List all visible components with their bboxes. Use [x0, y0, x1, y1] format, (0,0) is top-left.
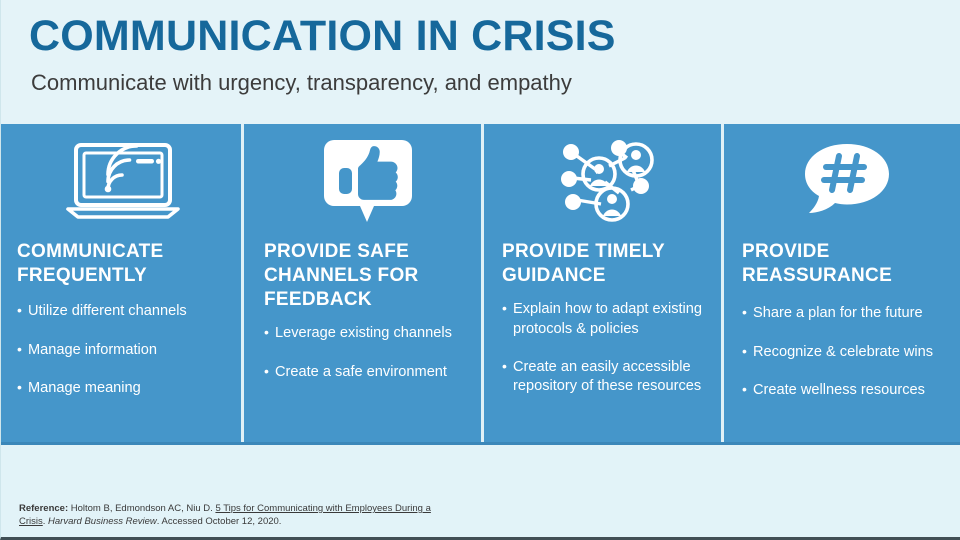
- reference-accessed: . Accessed October 12, 2020.: [157, 516, 282, 527]
- reference-journal: Harvard Business Review: [48, 516, 157, 527]
- column-heading: PROVIDE SAFE CHANNELS FOR FEEDBACK: [264, 240, 471, 312]
- list-item: Recognize & celebrate wins: [742, 343, 951, 362]
- reference-text: Reference: Holtom B, Edmondson AC, Niu D…: [19, 502, 439, 529]
- column-communicate-frequently: COMMUNICATE FREQUENTLY Utilize different…: [1, 124, 241, 442]
- laptop-wifi-icon: [17, 124, 229, 232]
- reference-period: .: [43, 516, 46, 527]
- column-heading: PROVIDE TIMELY GUIDANCE: [502, 240, 711, 288]
- column-provide-reassurance: PROVIDE REASSURANCE Share a plan for the…: [721, 124, 960, 442]
- page-title: COMMUNICATION IN CRISIS: [29, 14, 960, 59]
- slide-header: COMMUNICATION IN CRISIS Communicate with…: [1, 0, 960, 124]
- list-item: Manage information: [17, 341, 229, 360]
- list-item: Manage meaning: [17, 379, 229, 398]
- list-item: Create a safe environment: [264, 363, 471, 382]
- people-network-icon: [502, 124, 711, 232]
- hashtag-speech-bubble-icon: [742, 124, 951, 232]
- column-heading: PROVIDE REASSURANCE: [742, 240, 951, 288]
- list-item: Share a plan for the future: [742, 304, 951, 323]
- list-item: Create an easily accessible repository o…: [502, 358, 711, 397]
- column-heading: COMMUNICATE FREQUENTLY: [17, 240, 229, 288]
- list-item: Explain how to adapt existing protocols …: [502, 300, 711, 339]
- reference-authors: Holtom B, Edmondson AC, Niu D.: [71, 503, 213, 514]
- columns-band: COMMUNICATE FREQUENTLY Utilize different…: [1, 124, 960, 445]
- reference-label: Reference:: [19, 503, 68, 514]
- list-item: Utilize different channels: [17, 302, 229, 321]
- column-bullet-list: Explain how to adapt existing protocols …: [502, 300, 711, 415]
- thumbs-up-speech-bubble-icon: [264, 124, 471, 232]
- infographic-slide: COMMUNICATION IN CRISIS Communicate with…: [0, 0, 960, 540]
- column-provide-timely-guidance: PROVIDE TIMELY GUIDANCE Explain how to a…: [481, 124, 721, 442]
- column-provide-safe-channels: PROVIDE SAFE CHANNELS FOR FEEDBACK Lever…: [241, 124, 481, 442]
- list-item: Leverage existing channels: [264, 324, 471, 343]
- list-item: Create wellness resources: [742, 381, 951, 400]
- column-bullet-list: Utilize different channels Manage inform…: [17, 302, 229, 417]
- page-subtitle: Communicate with urgency, transparency, …: [31, 70, 960, 96]
- column-bullet-list: Leverage existing channels Create a safe…: [264, 324, 471, 401]
- column-bullet-list: Share a plan for the future Recognize & …: [742, 304, 951, 419]
- slide-footer: Reference: Holtom B, Edmondson AC, Niu D…: [1, 448, 960, 537]
